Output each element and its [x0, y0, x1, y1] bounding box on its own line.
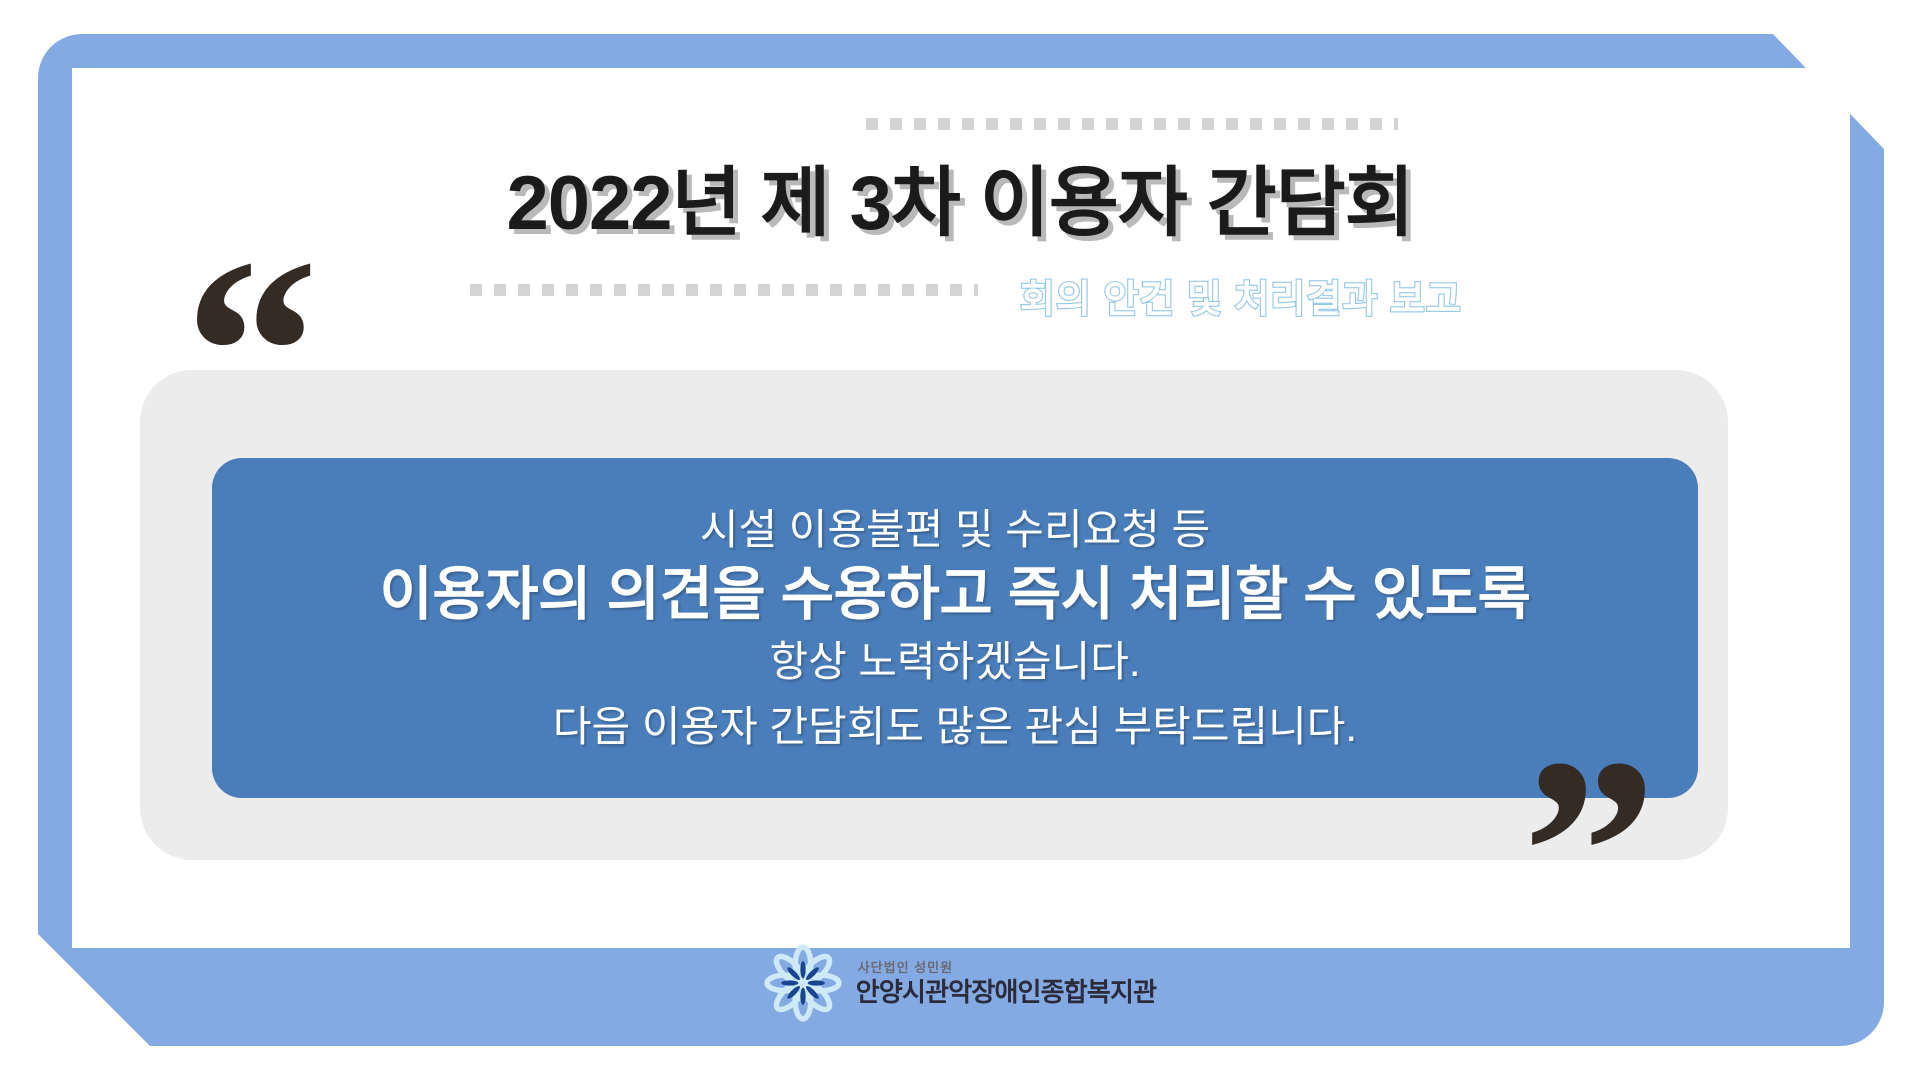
message-card: 시설 이용불편 및 수리요청 등 이용자의 의견을 수용하고 즉시 처리할 수 …: [212, 458, 1698, 798]
quote-close-icon: ”: [1522, 748, 1657, 959]
logo-org-name: 안양시관악장애인종합복지관: [856, 979, 1157, 1005]
logo-org-prefix: 사단법인 성민원: [856, 961, 1157, 974]
page-subtitle: 회의 안건 및 처리결과 보고: [1020, 268, 1462, 323]
logo-text-block: 사단법인 성민원 안양시관악장애인종합복지관: [856, 961, 1157, 1005]
dashed-divider-top: [866, 118, 1398, 130]
message-line-2: 이용자의 의견을 수용하고 즉시 처리할 수 있도록: [380, 557, 1531, 634]
slide-canvas: 2022년 제 3차 이용자 간담회 회의 안건 및 처리결과 보고 “ 시설 …: [0, 0, 1920, 1080]
message-line-3: 항상 노력하겠습니다.: [769, 634, 1140, 689]
quote-open-icon: “: [184, 248, 319, 459]
dashed-divider-bottom: [470, 284, 978, 296]
flower-pinwheel-logo-icon: [764, 944, 842, 1022]
message-line-4: 다음 이용자 간담회도 많은 관심 부탁드립니다.: [553, 699, 1357, 754]
footer-logo: 사단법인 성민원 안양시관악장애인종합복지관: [0, 944, 1920, 1022]
message-line-1: 시설 이용불편 및 수리요청 등: [700, 502, 1210, 557]
